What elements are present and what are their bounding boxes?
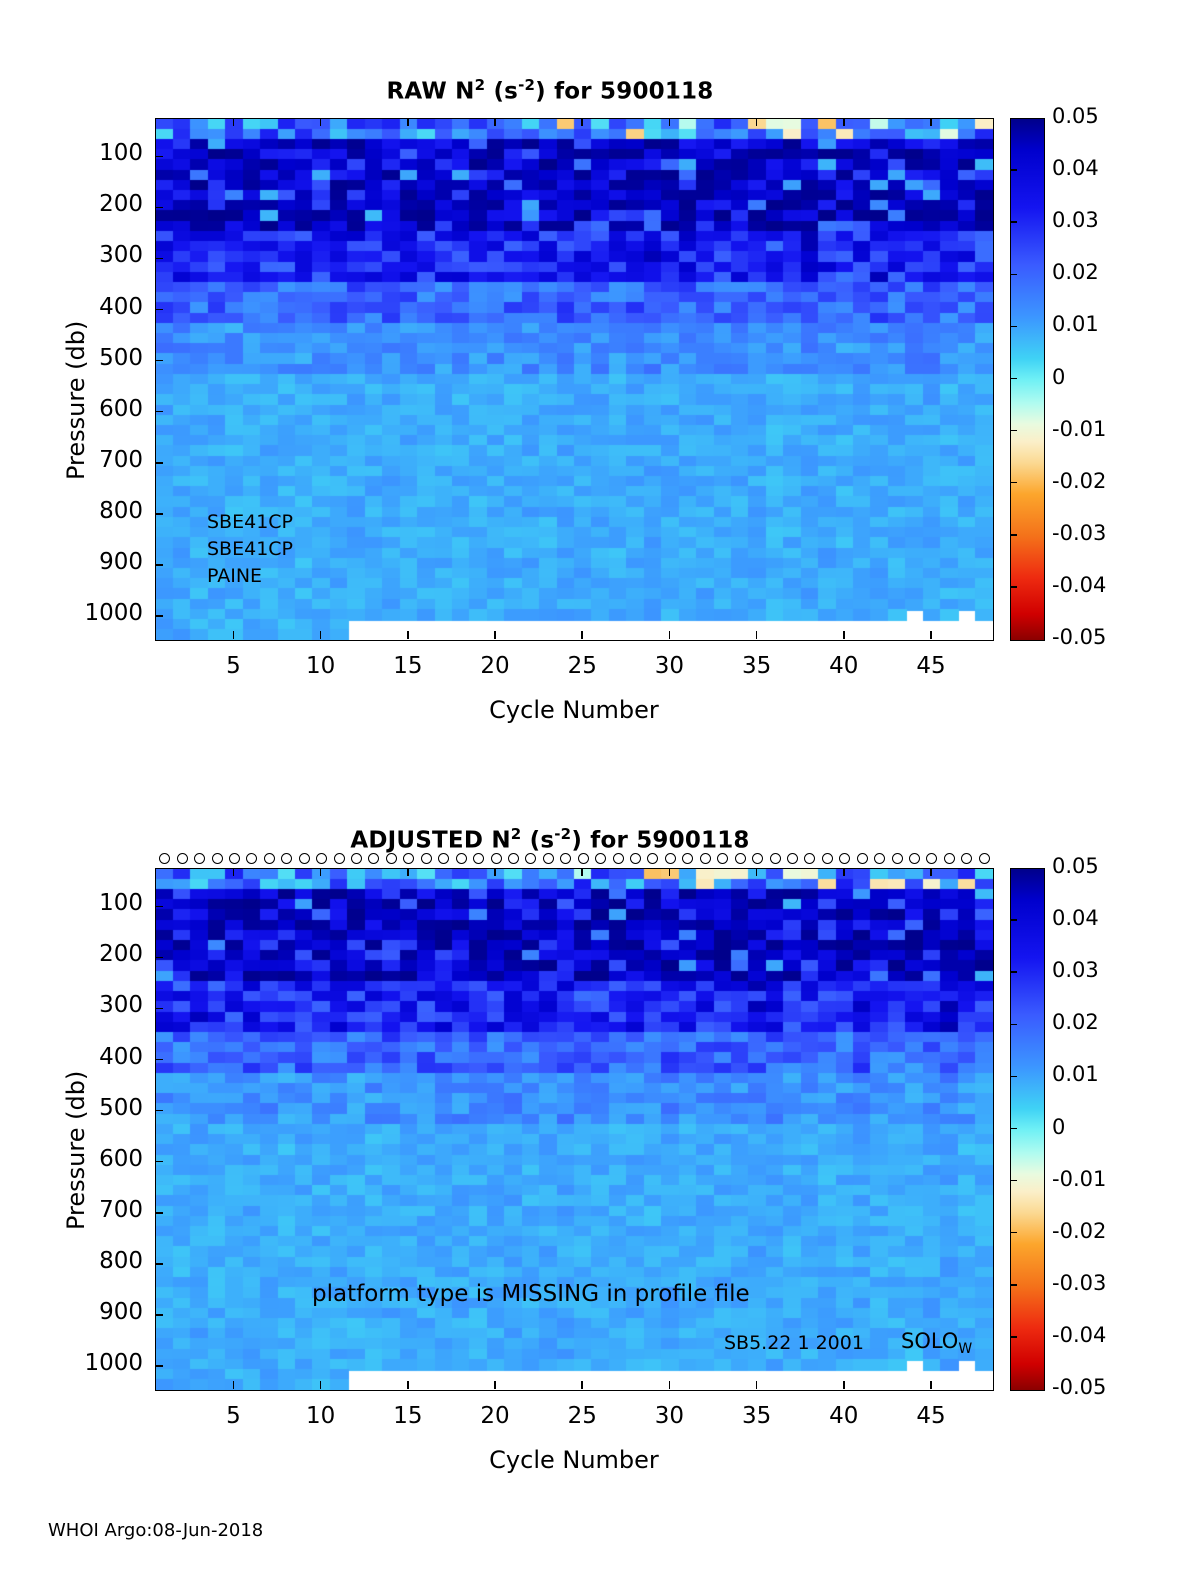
cycle-marker[interactable]: [961, 853, 972, 864]
cycle-marker[interactable]: [822, 853, 833, 864]
adj-x-tick: [669, 1381, 671, 1389]
raw-colorbar-tick-label: -0.05: [1052, 625, 1106, 649]
raw-heatmap-canvas[interactable]: [156, 119, 993, 640]
raw-x-tick: [843, 631, 845, 639]
adjusted-colorbar-tick-label: -0.04: [1052, 1323, 1106, 1347]
cycle-marker[interactable]: [543, 853, 554, 864]
cycle-marker[interactable]: [212, 853, 223, 864]
adj-x-tick-label: 35: [727, 1403, 787, 1429]
adj-x-tick-label: 20: [465, 1403, 525, 1429]
cycle-marker[interactable]: [368, 853, 379, 864]
adjusted-colorbar-tick: [1010, 1232, 1017, 1234]
panel-adjusted: ADJUSTED N2 (s-2) for 5900118 Pressure (…: [0, 740, 1200, 1500]
adjusted-colorbar-tick: [1010, 919, 1017, 921]
adj-y-tick-label: 100: [51, 890, 143, 916]
raw-x-tick-label: 35: [727, 653, 787, 679]
cycle-marker[interactable]: [438, 853, 449, 864]
cycle-marker[interactable]: [874, 853, 885, 864]
adj-y-tick: [155, 1161, 163, 1163]
raw-y-tick: [155, 615, 163, 617]
adj-x-tick: [756, 1381, 758, 1389]
cycle-marker[interactable]: [456, 853, 467, 864]
cycle-marker[interactable]: [700, 853, 711, 864]
adjusted-colorbar-tick-label: 0: [1052, 1115, 1065, 1139]
raw-y-tick: [155, 207, 163, 209]
sensor-line-1: SBE41CP: [207, 511, 293, 533]
raw-x-tick: [320, 631, 322, 639]
adj-x-tick-label: 30: [639, 1403, 699, 1429]
cycle-marker[interactable]: [334, 853, 345, 864]
cycle-marker[interactable]: [194, 853, 205, 864]
raw-x-tick-top: [843, 118, 845, 126]
adj-x-tick-label: 45: [901, 1403, 961, 1429]
raw-x-tick-top: [581, 118, 583, 126]
solo-label-text: SOLO: [901, 1329, 958, 1353]
sensor-line-2: SBE41CP: [207, 538, 293, 560]
cycle-marker[interactable]: [787, 853, 798, 864]
raw-colorbar-tick: [1010, 274, 1017, 276]
adjusted-heatmap-canvas[interactable]: [156, 869, 993, 1390]
cycle-marker[interactable]: [839, 853, 850, 864]
raw-x-tick-top: [407, 118, 409, 126]
raw-colorbar-tick: [1010, 534, 1017, 536]
raw-y-tick-label: 700: [51, 447, 143, 473]
raw-x-tick: [756, 631, 758, 639]
raw-x-tick-label: 15: [378, 653, 438, 679]
cycle-marker[interactable]: [752, 853, 763, 864]
adj-y-tick-label: 1000: [51, 1350, 143, 1376]
adjusted-colorbar-tick: [1010, 1180, 1017, 1182]
cycle-marker[interactable]: [246, 853, 257, 864]
adjusted-colorbar-tick: [1010, 971, 1017, 973]
raw-y-tick-label: 400: [51, 294, 143, 320]
raw-colorbar-tick: [1010, 378, 1017, 380]
raw-colorbar-tick: [1010, 169, 1017, 171]
cycle-marker[interactable]: [630, 853, 641, 864]
adjusted-plot-title: ADJUSTED N2 (s-2) for 5900118: [100, 825, 1000, 854]
adj-x-tick-label: 25: [552, 1403, 612, 1429]
raw-y-tick: [155, 360, 163, 362]
adj-y-tick-label: 300: [51, 992, 143, 1018]
cycle-marker[interactable]: [979, 853, 990, 864]
adjusted-colorbar[interactable]: [1010, 868, 1045, 1391]
adj-x-tick-top: [494, 868, 496, 876]
adjusted-colorbar-tick-label: -0.01: [1052, 1167, 1106, 1191]
raw-colorbar-tick-label: 0.04: [1052, 156, 1099, 180]
adj-x-tick-top: [669, 868, 671, 876]
adj-y-tick-label: 900: [51, 1299, 143, 1325]
adj-y-tick: [155, 1212, 163, 1214]
raw-colorbar[interactable]: [1010, 118, 1045, 641]
cycle-marker[interactable]: [264, 853, 275, 864]
cycle-marker[interactable]: [386, 853, 397, 864]
raw-y-tick: [155, 513, 163, 515]
adj-y-tick: [155, 957, 163, 959]
cycle-marker[interactable]: [717, 853, 728, 864]
raw-y-tick-label: 100: [51, 140, 143, 166]
raw-y-tick: [155, 156, 163, 158]
cycle-marker[interactable]: [578, 853, 589, 864]
adj-x-tick-top: [233, 868, 235, 876]
raw-colorbar-gradient: [1011, 119, 1044, 640]
adjusted-colorbar-tick-label: 0.01: [1052, 1062, 1099, 1086]
sensor-line-3: PAINE: [207, 565, 262, 587]
raw-x-tick-label: 30: [639, 653, 699, 679]
cycle-marker[interactable]: [857, 853, 868, 864]
adjusted-colorbar-tick-label: 0.03: [1052, 958, 1099, 982]
adj-x-tick-label: 15: [378, 1403, 438, 1429]
raw-y-tick-label: 600: [51, 396, 143, 422]
adjusted-title-exponent: 2: [511, 825, 522, 843]
cycle-marker[interactable]: [421, 853, 432, 864]
cycle-marker[interactable]: [892, 853, 903, 864]
raw-x-tick-label: 45: [901, 653, 961, 679]
cycle-marker[interactable]: [177, 853, 188, 864]
raw-colorbar-tick: [1010, 430, 1017, 432]
cycle-marker[interactable]: [491, 853, 502, 864]
calibration-note: SB5.22 1 2001: [724, 1332, 864, 1354]
adjusted-title-unit-exponent: -2: [554, 825, 571, 843]
cycle-marker[interactable]: [299, 853, 310, 864]
adj-x-tick-top: [407, 868, 409, 876]
raw-y-tick: [155, 411, 163, 413]
adj-y-tick: [155, 1110, 163, 1112]
adjusted-colorbar-tick-label: -0.02: [1052, 1219, 1106, 1243]
cycle-marker[interactable]: [525, 853, 536, 864]
adj-y-tick: [155, 1365, 163, 1367]
raw-plot-title: RAW N2 (s-2) for 5900118: [100, 76, 1000, 105]
raw-colorbar-tick-label: -0.01: [1052, 417, 1106, 441]
raw-x-tick: [930, 631, 932, 639]
raw-colorbar-tick-label: -0.02: [1052, 469, 1106, 493]
adjusted-colorbar-gradient: [1011, 869, 1044, 1390]
raw-title-unit-exponent: -2: [518, 76, 535, 94]
adj-x-tick: [494, 1381, 496, 1389]
raw-colorbar-tick-label: 0.01: [1052, 312, 1099, 336]
cycle-marker[interactable]: [682, 853, 693, 864]
adjusted-title-unit-pre: (s: [521, 828, 554, 854]
raw-y-tick-label: 500: [51, 345, 143, 371]
raw-x-axis-label: Cycle Number: [124, 696, 1024, 724]
adjusted-colorbar-tick: [1010, 1128, 1017, 1130]
raw-x-tick-label: 25: [552, 653, 612, 679]
raw-colorbar-tick-label: 0.05: [1052, 104, 1099, 128]
raw-x-tick-top: [320, 118, 322, 126]
adjusted-colorbar-tick-label: 0.02: [1052, 1010, 1099, 1034]
raw-colorbar-tick-label: -0.03: [1052, 521, 1106, 545]
adjusted-colorbar-tick-label: 0.04: [1052, 906, 1099, 930]
raw-x-tick-label: 5: [203, 653, 263, 679]
raw-y-tick: [155, 462, 163, 464]
cycle-marker[interactable]: [159, 853, 170, 864]
cycle-marker[interactable]: [560, 853, 571, 864]
adjusted-colorbar-tick-label: -0.05: [1052, 1375, 1106, 1399]
cycle-marker[interactable]: [926, 853, 937, 864]
adjusted-colorbar-tick: [1010, 1076, 1017, 1078]
adj-x-tick-top: [843, 868, 845, 876]
cycle-marker[interactable]: [909, 853, 920, 864]
adjusted-x-axis-label: Cycle Number: [124, 1446, 1024, 1474]
raw-title-suffix: ) for 5900118: [535, 79, 713, 105]
raw-title-prefix: RAW N: [387, 79, 475, 105]
adj-y-tick: [155, 1008, 163, 1010]
adjusted-colorbar-tick: [1010, 1284, 1017, 1286]
raw-x-tick: [233, 631, 235, 639]
raw-y-tick-label: 900: [51, 549, 143, 575]
panel-raw: RAW N2 (s-2) for 5900118 Pressure (db) C…: [0, 0, 1200, 760]
adj-x-tick-label: 5: [203, 1403, 263, 1429]
raw-colorbar-tick-label: 0.02: [1052, 260, 1099, 284]
platform-type-warning: platform type is MISSING in profile file: [312, 1281, 750, 1307]
raw-y-tick: [155, 564, 163, 566]
raw-title-exponent: 2: [475, 76, 486, 94]
raw-y-tick: [155, 309, 163, 311]
cycle-marker[interactable]: [613, 853, 624, 864]
adj-y-tick-label: 200: [51, 941, 143, 967]
raw-colorbar-tick-label: -0.04: [1052, 573, 1106, 597]
cycle-marker[interactable]: [647, 853, 658, 864]
adjusted-colorbar-tick-label: 0.05: [1052, 854, 1099, 878]
adj-y-tick: [155, 1263, 163, 1265]
adj-y-tick: [155, 1314, 163, 1316]
raw-x-tick: [407, 631, 409, 639]
adj-x-tick: [320, 1381, 322, 1389]
raw-x-tick-top: [233, 118, 235, 126]
adjusted-title-prefix: ADJUSTED N: [350, 828, 510, 854]
raw-x-tick: [494, 631, 496, 639]
solo-label-subscript: W: [958, 1341, 972, 1357]
raw-y-tick-label: 800: [51, 498, 143, 524]
adj-y-tick-label: 400: [51, 1044, 143, 1070]
cycle-marker[interactable]: [770, 853, 781, 864]
adj-y-tick: [155, 906, 163, 908]
adj-x-tick-label: 10: [291, 1403, 351, 1429]
raw-x-tick-label: 20: [465, 653, 525, 679]
adj-x-tick-top: [756, 868, 758, 876]
raw-x-tick-label: 10: [291, 653, 351, 679]
solo-platform-label: SOLOW: [901, 1329, 972, 1357]
adj-x-tick: [407, 1381, 409, 1389]
cycle-marker[interactable]: [944, 853, 955, 864]
raw-colorbar-tick-label: 0: [1052, 365, 1065, 389]
figure-footer: WHOI Argo:08-Jun-2018: [48, 1520, 263, 1541]
cycle-marker[interactable]: [473, 853, 484, 864]
raw-y-tick-label: 200: [51, 191, 143, 217]
adj-y-tick-label: 800: [51, 1248, 143, 1274]
adj-y-tick-label: 700: [51, 1197, 143, 1223]
raw-x-tick-top: [930, 118, 932, 126]
raw-colorbar-tick: [1010, 221, 1017, 223]
cycle-marker[interactable]: [735, 853, 746, 864]
cycle-marker[interactable]: [351, 853, 362, 864]
raw-colorbar-tick: [1010, 326, 1017, 328]
adj-x-tick: [843, 1381, 845, 1389]
cycle-marker[interactable]: [804, 853, 815, 864]
adj-y-tick-label: 600: [51, 1146, 143, 1172]
adj-x-tick-label: 40: [814, 1403, 874, 1429]
raw-colorbar-tick-label: 0.03: [1052, 208, 1099, 232]
raw-x-tick: [581, 631, 583, 639]
adj-x-tick-top: [320, 868, 322, 876]
adjusted-heatmap-axes[interactable]: [155, 868, 994, 1391]
adj-x-tick: [930, 1381, 932, 1389]
adj-y-tick: [155, 1059, 163, 1061]
cycle-marker[interactable]: [665, 853, 676, 864]
raw-colorbar-tick: [1010, 586, 1017, 588]
raw-colorbar-tick: [1010, 482, 1017, 484]
raw-x-tick-top: [669, 118, 671, 126]
raw-x-tick-top: [756, 118, 758, 126]
cycle-marker[interactable]: [316, 853, 327, 864]
adj-x-tick: [581, 1381, 583, 1389]
adj-x-tick-top: [930, 868, 932, 876]
adjusted-title-suffix: ) for 5900118: [571, 828, 749, 854]
raw-y-tick: [155, 258, 163, 260]
cycle-marker[interactable]: [595, 853, 606, 864]
raw-x-tick-top: [494, 118, 496, 126]
adj-y-tick-label: 500: [51, 1095, 143, 1121]
raw-y-tick-label: 300: [51, 242, 143, 268]
cycle-marker[interactable]: [508, 853, 519, 864]
cycle-marker[interactable]: [229, 853, 240, 864]
raw-heatmap-axes[interactable]: [155, 118, 994, 641]
raw-y-tick-label: 1000: [51, 600, 143, 626]
adjusted-colorbar-tick-label: -0.03: [1052, 1271, 1106, 1295]
adjusted-colorbar-tick: [1010, 1336, 1017, 1338]
adjusted-colorbar-tick: [1010, 1024, 1017, 1026]
raw-title-unit-pre: (s: [485, 79, 518, 105]
adj-x-tick: [233, 1381, 235, 1389]
cycle-marker[interactable]: [403, 853, 414, 864]
cycle-marker-row: [155, 853, 992, 867]
raw-x-tick: [669, 631, 671, 639]
raw-x-tick-label: 40: [814, 653, 874, 679]
cycle-marker[interactable]: [281, 853, 292, 864]
adj-x-tick-top: [581, 868, 583, 876]
